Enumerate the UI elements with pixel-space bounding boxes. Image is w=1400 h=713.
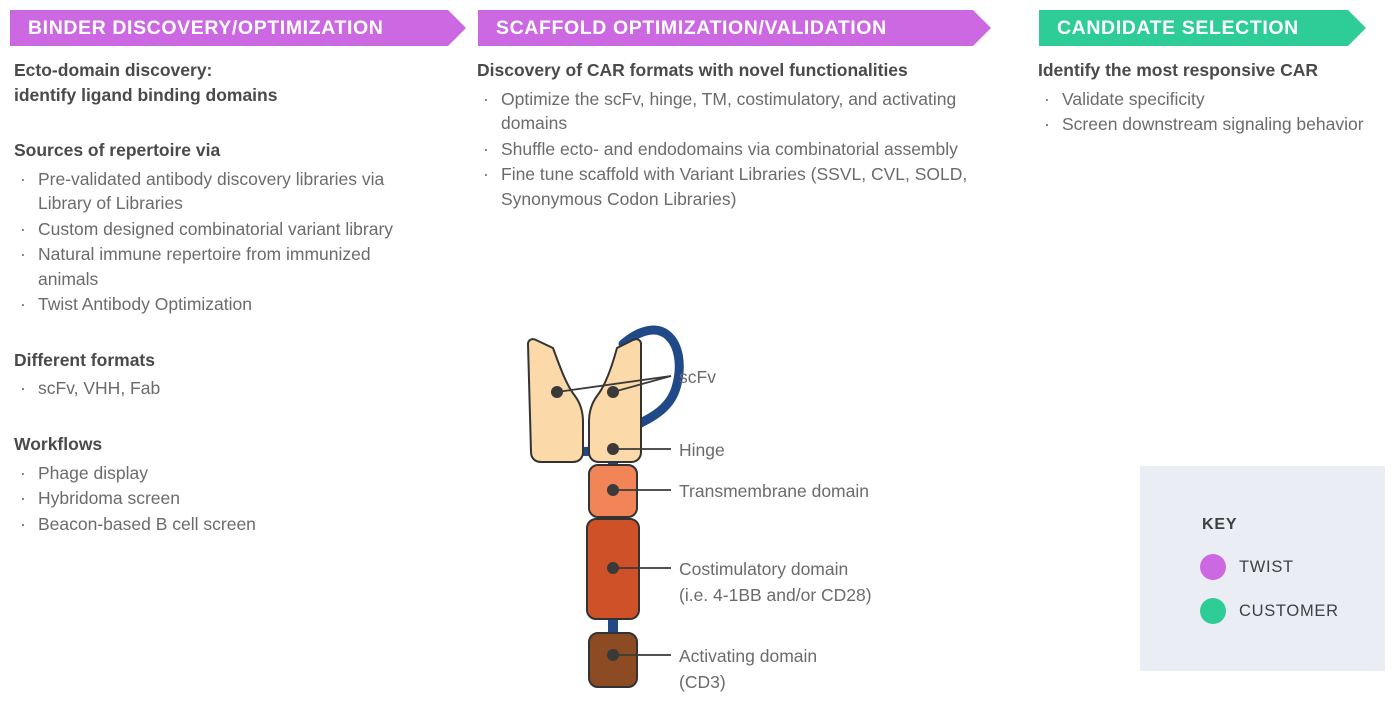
column-scaffold-optimization: Discovery of CAR formats with novel func… — [477, 58, 977, 212]
key-item-customer: CUSTOMER — [1200, 598, 1339, 624]
list-item: ·Natural immune repertoire from immunize… — [14, 242, 414, 291]
anchor-dot-scfv-left — [551, 386, 563, 398]
list-item-label: Optimize the scFv, hinge, TM, costimulat… — [501, 89, 956, 134]
list-item-label: Shuffle ecto- and endodomains via combin… — [501, 139, 958, 159]
list-item: ·Beacon-based B cell screen — [14, 512, 414, 537]
list-item: ·Validate specificity — [1038, 87, 1388, 112]
list-item-label: Fine tune scaffold with Variant Librarie… — [501, 164, 967, 209]
bullet-icon: · — [483, 137, 489, 162]
column1-section2-list: ·scFv, VHH, Fab — [14, 376, 414, 401]
label-scfv: scFv — [679, 367, 716, 387]
key-swatch-customer-icon — [1200, 598, 1226, 624]
bullet-icon: · — [1044, 87, 1050, 112]
key-label-twist: TWIST — [1239, 558, 1294, 577]
column1-section1-list: ·Pre-validated antibody discovery librar… — [14, 167, 414, 317]
list-item-label: Pre-validated antibody discovery librari… — [38, 169, 384, 214]
list-item: ·Pre-validated antibody discovery librar… — [14, 167, 414, 216]
bullet-icon: · — [20, 292, 26, 317]
label-costimulatory-line2: (i.e. 4-1BB and/or CD28) — [679, 585, 872, 605]
key-legend: KEY TWIST CUSTOMER — [1140, 466, 1385, 671]
bullet-icon: · — [1044, 112, 1050, 137]
label-costimulatory-line1: Costimulatory domain — [679, 559, 848, 579]
stage-banner-label: CANDIDATE SELECTION — [1057, 17, 1299, 40]
bullet-icon: · — [20, 512, 26, 537]
car-construct-diagram: scFv Hinge Transmembrane domain Costimul… — [495, 300, 965, 700]
label-transmembrane: Transmembrane domain — [679, 481, 869, 501]
list-item: ·Fine tune scaffold with Variant Librari… — [477, 162, 977, 211]
key-item-twist: TWIST — [1200, 554, 1294, 580]
list-item-label: Beacon-based B cell screen — [38, 514, 256, 534]
key-swatch-twist-icon — [1200, 554, 1226, 580]
list-item: ·Screen downstream signaling behavior — [1038, 112, 1388, 137]
label-activating-line2: (CD3) — [679, 672, 726, 692]
bullet-icon: · — [483, 162, 489, 187]
column-candidate-selection: Identify the most responsive CAR ·Valida… — [1038, 58, 1388, 138]
list-item-label: Screen downstream signaling behavior — [1062, 114, 1364, 134]
column1-intro: Ecto-domain discovery: identify ligand b… — [14, 58, 414, 108]
stage-banner-candidate-selection[interactable]: CANDIDATE SELECTION — [1039, 10, 1348, 46]
list-item: ·Custom designed combinatorial variant l… — [14, 217, 414, 242]
column1-section3-heading: Workflows — [14, 432, 414, 457]
key-title: KEY — [1202, 516, 1237, 534]
bullet-icon: · — [20, 242, 26, 267]
label-activating-line1: Activating domain — [679, 646, 817, 666]
list-item-label: Validate specificity — [1062, 89, 1205, 109]
list-item-label: scFv, VHH, Fab — [38, 378, 160, 398]
list-item: ·Twist Antibody Optimization — [14, 292, 414, 317]
stage-banner-binder-discovery[interactable]: BINDER DISCOVERY/OPTIMIZATION — [10, 10, 448, 46]
spacer — [14, 108, 414, 138]
list-item-label: Custom designed combinatorial variant li… — [38, 219, 393, 239]
spacer — [14, 402, 414, 432]
list-item: ·Phage display — [14, 461, 414, 486]
list-item: ·Optimize the scFv, hinge, TM, costimula… — [477, 87, 977, 136]
anchor-dot-scfv-right — [607, 386, 619, 398]
column3-list: ·Validate specificity ·Screen downstream… — [1038, 87, 1388, 137]
stage-banner-scaffold-optimization[interactable]: SCAFFOLD OPTIMIZATION/VALIDATION — [478, 10, 973, 46]
column1-intro-line1: Ecto-domain discovery: — [14, 60, 212, 80]
stage-banner-label: BINDER DISCOVERY/OPTIMIZATION — [28, 17, 383, 40]
list-item: ·Shuffle ecto- and endodomains via combi… — [477, 137, 977, 162]
anchor-dot-activating — [607, 649, 619, 661]
column1-section3-list: ·Phage display ·Hybridoma screen ·Beacon… — [14, 461, 414, 537]
anchor-dot-costimulatory — [607, 562, 619, 574]
stage-banner-label: SCAFFOLD OPTIMIZATION/VALIDATION — [496, 17, 887, 40]
column3-heading: Identify the most responsive CAR — [1038, 58, 1388, 83]
column-binder-discovery: Ecto-domain discovery: identify ligand b… — [14, 58, 414, 537]
diagram-canvas: BINDER DISCOVERY/OPTIMIZATION SCAFFOLD O… — [0, 0, 1400, 713]
anchor-dot-hinge — [607, 443, 619, 455]
list-item: ·Hybridoma screen — [14, 486, 414, 511]
spacer — [14, 318, 414, 348]
column2-heading: Discovery of CAR formats with novel func… — [477, 58, 977, 83]
bullet-icon: · — [20, 376, 26, 401]
scfv-lobe-left — [528, 339, 583, 462]
bullet-icon: · — [20, 486, 26, 511]
anchor-dot-transmembrane — [607, 484, 619, 496]
column1-section2-heading: Different formats — [14, 348, 414, 373]
column1-section1-heading: Sources of repertoire via — [14, 138, 414, 163]
column1-intro-line2: identify ligand binding domains — [14, 85, 277, 105]
list-item-label: Hybridoma screen — [38, 488, 180, 508]
list-item: ·scFv, VHH, Fab — [14, 376, 414, 401]
list-item-label: Natural immune repertoire from immunized… — [38, 244, 371, 289]
key-label-customer: CUSTOMER — [1239, 602, 1339, 621]
column2-list: ·Optimize the scFv, hinge, TM, costimula… — [477, 87, 977, 212]
label-hinge: Hinge — [679, 440, 725, 460]
bullet-icon: · — [20, 461, 26, 486]
bullet-icon: · — [20, 217, 26, 242]
list-item-label: Twist Antibody Optimization — [38, 294, 252, 314]
bullet-icon: · — [20, 167, 26, 192]
list-item-label: Phage display — [38, 463, 148, 483]
bullet-icon: · — [483, 87, 489, 112]
